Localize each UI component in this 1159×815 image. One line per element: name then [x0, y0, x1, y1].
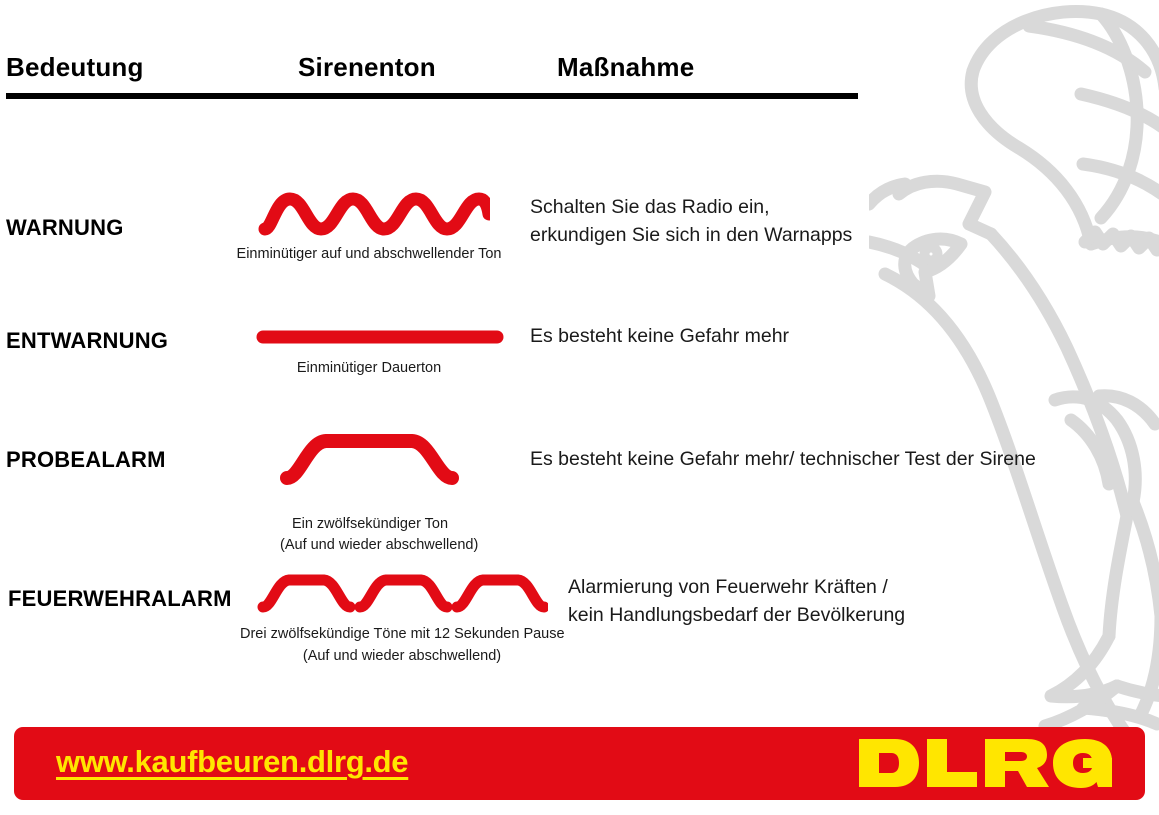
row-label-warnung: WARNUNG: [6, 215, 124, 241]
table-row-feuerwehralarm: FEUERWEHRALARM Drei zwölfsekündige Töne …: [0, 572, 1159, 682]
row-label-feuerwehralarm: FEUERWEHRALARM: [8, 586, 232, 612]
table-header-row: Bedeutung Sirenenton Maßnahme: [0, 52, 880, 96]
measure-probealarm-line1: Es besteht keine Gefahr mehr/ technische…: [530, 446, 1036, 474]
column-header-sirenenton: Sirenenton: [298, 52, 436, 83]
row-label-probealarm: PROBEALARM: [6, 447, 166, 473]
triple-pulse-icon: [256, 572, 548, 614]
column-header-bedeutung: Bedeutung: [6, 52, 144, 83]
tone-caption-feuerwehralarm-line2: (Auf und wieder abschwellend): [240, 646, 564, 667]
row-label-entwarnung: ENTWARNUNG: [6, 328, 168, 354]
wavy-line-icon: [258, 192, 490, 236]
tone-caption-feuerwehralarm-line1: Drei zwölfsekündige Töne mit 12 Sekunden…: [240, 624, 564, 645]
header-divider: [6, 93, 858, 99]
dlrg-logo: [855, 735, 1115, 791]
measure-warnung-line2: erkundigen Sie sich in den Warnapps: [530, 222, 852, 250]
website-link[interactable]: www.kaufbeuren.dlrg.de: [56, 744, 408, 780]
tone-caption-warnung-line1: Einminütiger auf und abschwellender Ton: [234, 244, 504, 265]
footer-banner: www.kaufbeuren.dlrg.de: [14, 727, 1145, 800]
sirenensignale-poster: Bedeutung Sirenenton Maßnahme WARNUNG Ei…: [0, 0, 1159, 815]
table-row-probealarm: PROBEALARM Ein zwölfsekündiger Ton (Auf …: [0, 432, 1159, 562]
measure-warnung-line1: Schalten Sie das Radio ein,: [530, 194, 770, 222]
tone-caption-probealarm-line2: (Auf und wieder abschwellend): [280, 535, 460, 556]
tone-caption-entwarnung-line1: Einminütiger Dauerton: [255, 358, 483, 379]
single-pulse-icon: [278, 432, 462, 486]
flat-line-icon: [255, 326, 505, 348]
tone-caption-probealarm-line1: Ein zwölfsekündiger Ton: [280, 514, 460, 535]
measure-feuerwehralarm-line1: Alarmierung von Feuerwehr Kräften /: [568, 574, 888, 602]
table-row-warnung: WARNUNG Einminütiger auf und abschwellen…: [0, 190, 1159, 270]
measure-feuerwehralarm-line2: kein Handlungsbedarf der Bevölkerung: [568, 602, 905, 630]
column-header-massnahme: Maßnahme: [557, 52, 694, 83]
table-row-entwarnung: ENTWARNUNG Einminütiger Dauerton Es best…: [0, 320, 1159, 390]
measure-entwarnung-line1: Es besteht keine Gefahr mehr: [530, 323, 789, 351]
